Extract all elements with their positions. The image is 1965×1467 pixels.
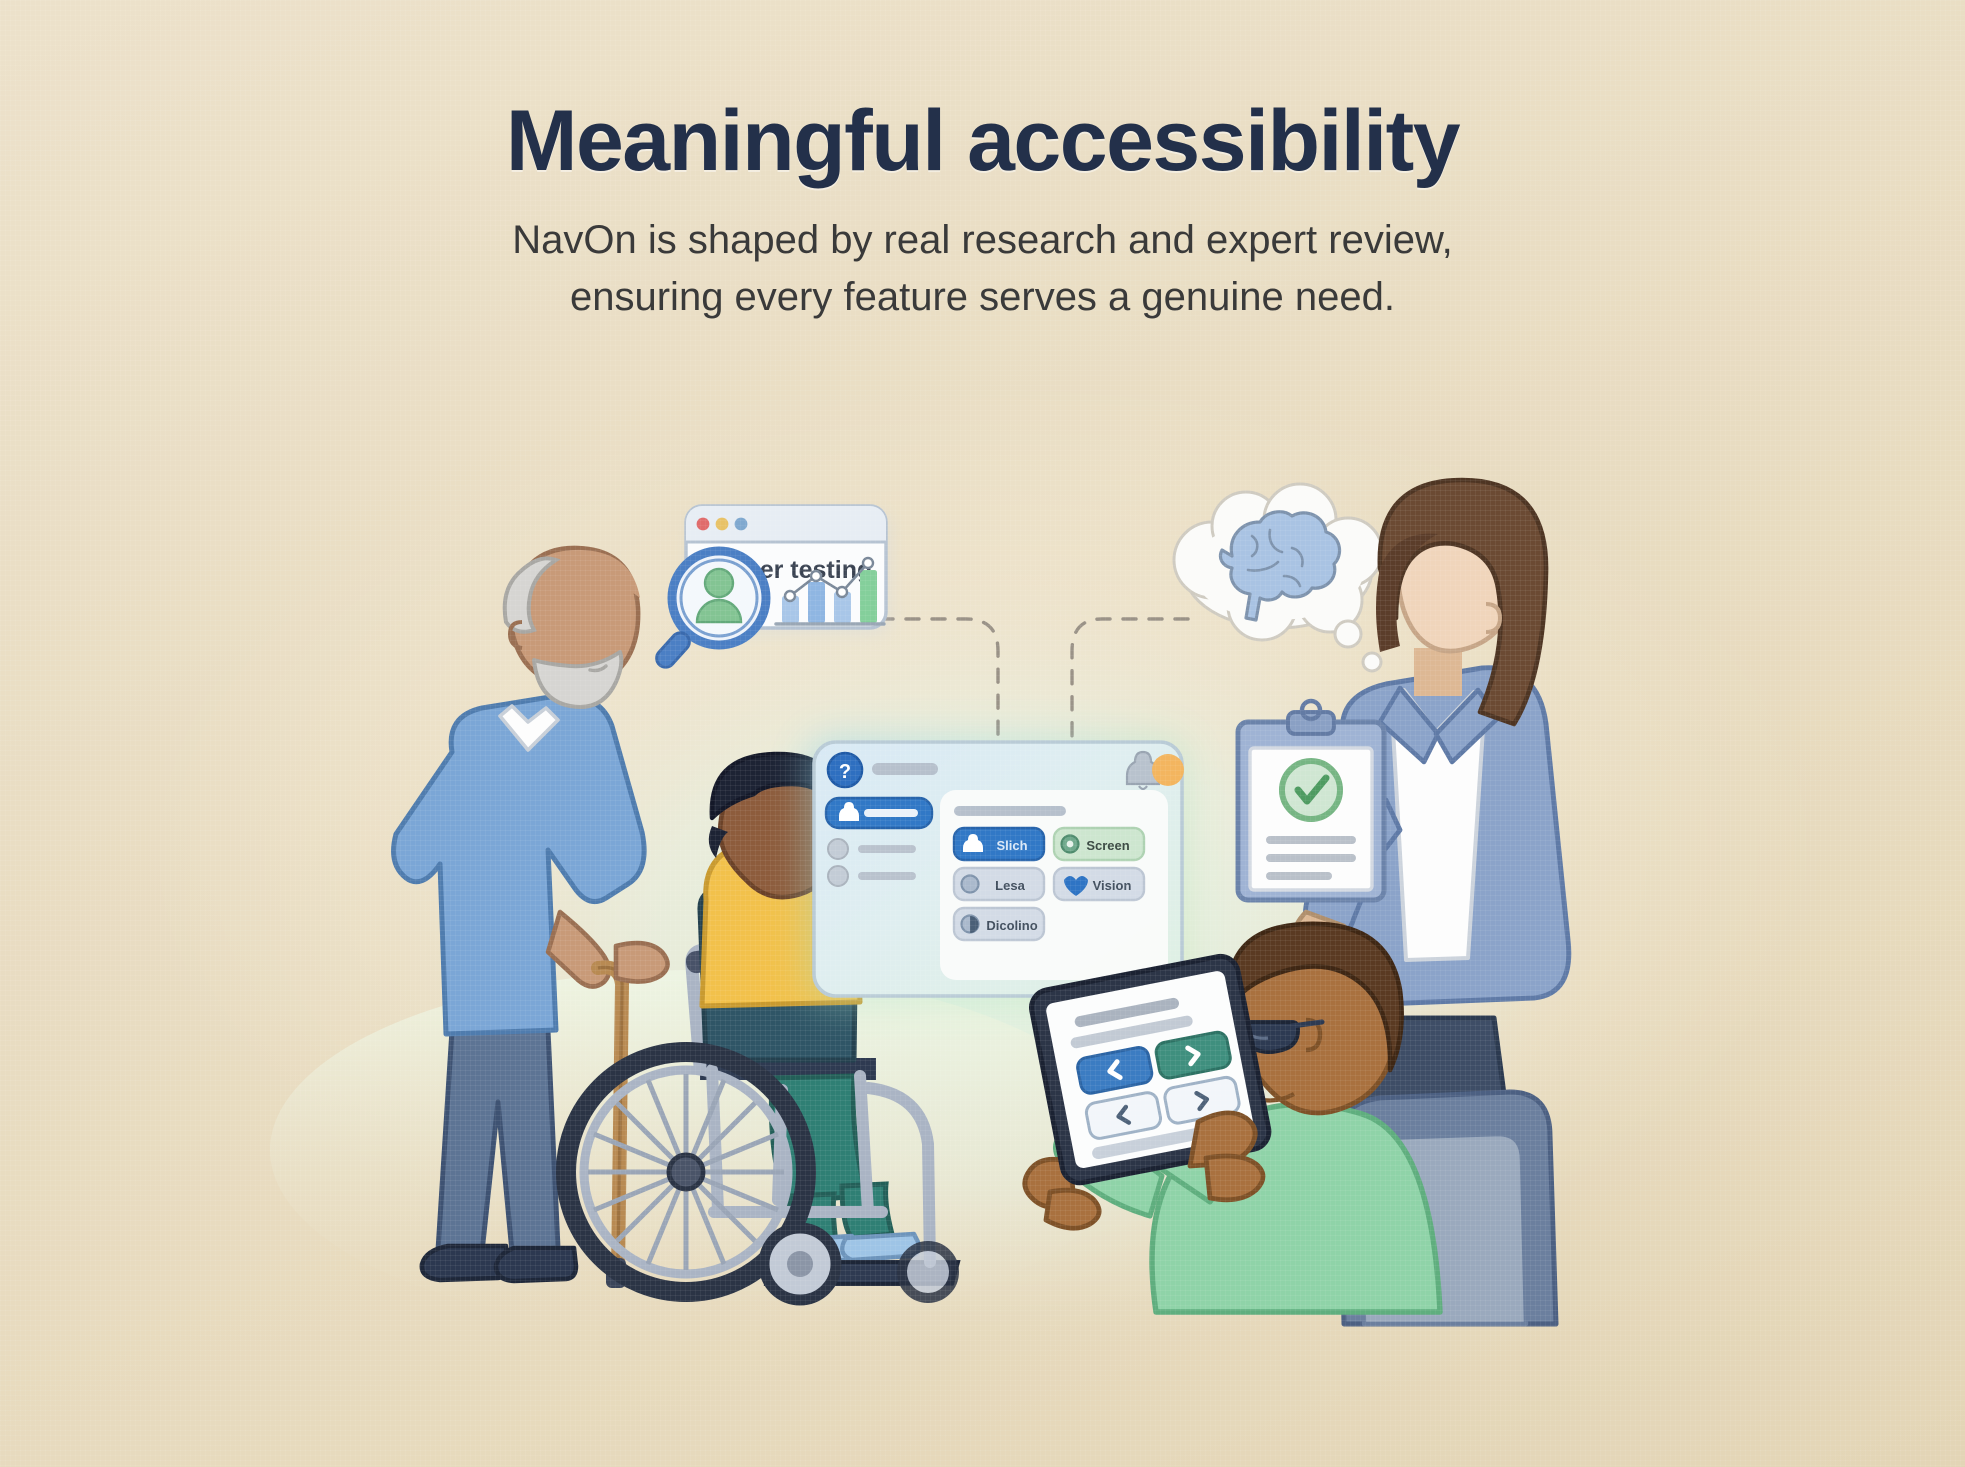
option-button-5-label: Dicolino xyxy=(986,918,1037,933)
sidebar-item-2 xyxy=(858,845,916,853)
clipboard-line-1 xyxy=(1266,836,1356,844)
option-button-3-label: Lesa xyxy=(995,878,1025,893)
option-button-4-label: Vision xyxy=(1093,878,1132,893)
subtitle-line-2: ensuring every feature serves a genuine … xyxy=(443,269,1523,326)
slide-canvas: Meaningful accessibility NavOn is shaped… xyxy=(0,0,1965,1467)
option-button-4[interactable]: Vision xyxy=(1054,868,1144,900)
clipboard xyxy=(1238,701,1384,900)
clipboard-line-3 xyxy=(1266,872,1332,880)
option-button-2[interactable]: Screen xyxy=(1054,828,1144,860)
window-dot-red xyxy=(697,518,710,531)
window-dot-blue xyxy=(735,518,748,531)
content-title-placeholder xyxy=(954,806,1066,816)
page-title: Meaningful accessibility xyxy=(0,96,1965,186)
panel-title-placeholder xyxy=(872,763,938,775)
check-circle-icon xyxy=(1282,761,1340,819)
header-block: Meaningful accessibility NavOn is shaped… xyxy=(0,96,1965,326)
page-subtitle: NavOn is shaped by real research and exp… xyxy=(443,212,1523,326)
option-button-5[interactable]: Dicolino xyxy=(954,908,1044,940)
avatar-head xyxy=(705,569,733,597)
sidebar-item-3 xyxy=(858,872,916,880)
window-dot-yellow xyxy=(716,518,729,531)
main-ui-panel: ? xyxy=(806,736,1188,1004)
option-button-1[interactable]: Slich xyxy=(954,828,1044,860)
svg-text:?: ? xyxy=(839,761,851,783)
option-button-2-label: Screen xyxy=(1086,838,1129,853)
sidebar-icon-2 xyxy=(828,839,848,859)
avatar xyxy=(1152,754,1184,786)
sidebar-icon-3 xyxy=(828,866,848,886)
option-button-3[interactable]: Lesa xyxy=(954,868,1044,900)
subtitle-line-1: NavOn is shaped by real research and exp… xyxy=(443,212,1523,269)
panel-content-card: Slich Screen Lesa Vision xyxy=(940,790,1168,980)
option-button-1-label: Slich xyxy=(996,838,1027,853)
clipboard-line-2 xyxy=(1266,854,1356,862)
